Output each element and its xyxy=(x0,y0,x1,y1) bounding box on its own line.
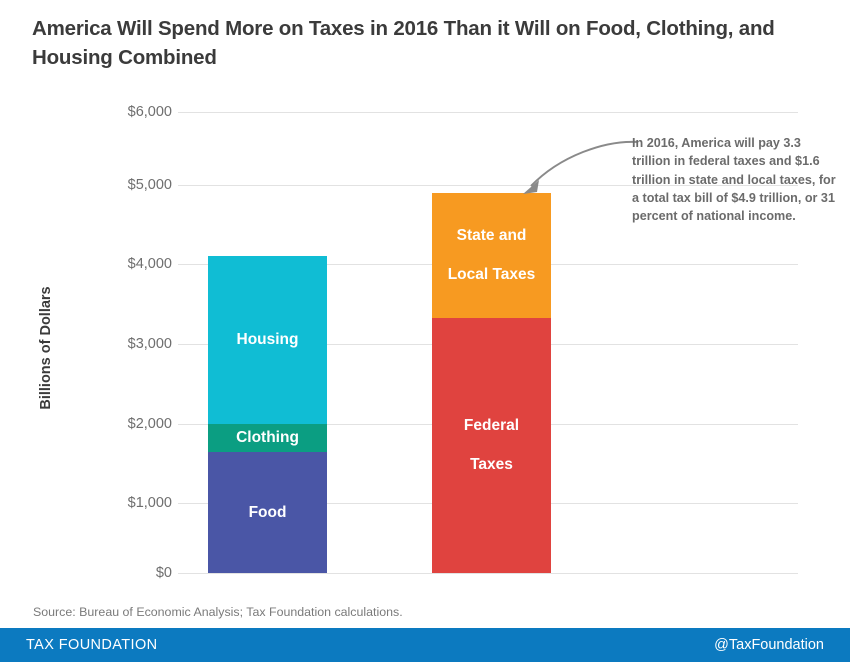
segment-state-local-taxes-label: State and Local Taxes xyxy=(432,226,551,284)
bar-taxes[interactable]: State and Local Taxes Federal Taxes xyxy=(432,193,551,573)
bar-food-clothing-housing[interactable]: Housing Clothing Food xyxy=(208,256,327,573)
chart-plot-area: $6,000 $5,000 $4,000 $3,000 $2,000 $1,00… xyxy=(0,0,850,600)
y-tick-4000: $4,000 xyxy=(72,256,172,272)
footer-brand: TAX FOUNDATION xyxy=(26,637,158,653)
y-tick-0: $0 xyxy=(72,565,172,581)
y-tick-5000: $5,000 xyxy=(72,177,172,193)
y-axis-title: Billions of Dollars xyxy=(38,238,54,458)
segment-housing-label: Housing xyxy=(208,330,327,349)
y-tick-3000: $3,000 xyxy=(72,336,172,352)
annotation-arrow-icon xyxy=(505,128,640,200)
y-tick-2000: $2,000 xyxy=(72,416,172,432)
y-tick-6000: $6,000 xyxy=(72,104,172,120)
federal-label-line-2: Taxes xyxy=(432,455,551,474)
segment-federal-taxes-label: Federal Taxes xyxy=(432,416,551,474)
y-tick-1000: $1,000 xyxy=(72,495,172,511)
annotation-text: In 2016, America will pay 3.3 trillion i… xyxy=(632,134,838,225)
source-note: Source: Bureau of Economic Analysis; Tax… xyxy=(33,605,403,619)
footer-bar: TAX FOUNDATION @TaxFoundation xyxy=(0,628,850,662)
segment-food-label: Food xyxy=(208,503,327,522)
state-label-line-2: Local Taxes xyxy=(432,265,551,284)
segment-food[interactable]: Food xyxy=(208,452,327,573)
segment-housing[interactable]: Housing xyxy=(208,256,327,424)
segment-clothing[interactable]: Clothing xyxy=(208,424,327,452)
gridline-0 xyxy=(178,573,798,574)
segment-clothing-label: Clothing xyxy=(208,428,327,447)
state-label-line-1: State and xyxy=(432,226,551,245)
gridline-6000 xyxy=(178,112,798,113)
segment-state-local-taxes[interactable]: State and Local Taxes xyxy=(432,193,551,318)
segment-federal-taxes[interactable]: Federal Taxes xyxy=(432,318,551,573)
footer-social-handle[interactable]: @TaxFoundation xyxy=(714,637,824,653)
federal-label-line-1: Federal xyxy=(432,416,551,435)
